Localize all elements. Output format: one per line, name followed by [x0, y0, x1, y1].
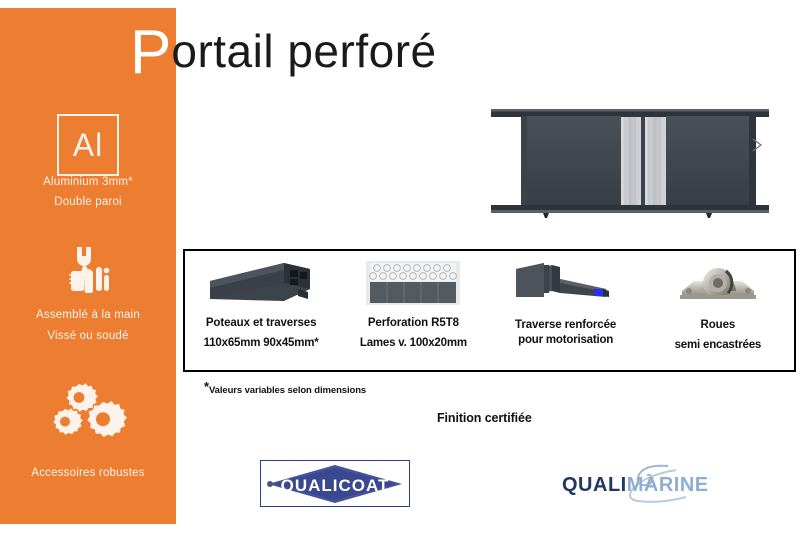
qualimarine-wordmark-bold: QUALI: [562, 474, 627, 496]
qualimarine-wordmark-light: MARINE: [627, 474, 709, 496]
product-spec: semi encastrées: [675, 339, 762, 352]
product-name: Perforation R5T8: [368, 317, 459, 330]
aluminium-square-icon: Al: [57, 114, 119, 176]
product-item: Poteaux et traverses 110x65mm 90x45mm*: [185, 251, 337, 370]
footnote-text: Valeurs variables selon dimensions: [209, 385, 366, 396]
sliding-gate-image: [481, 103, 779, 222]
footnote: *Valeurs variables selon dimensions: [204, 379, 366, 396]
product-spec: pour motorisation: [518, 334, 613, 347]
perforation-sample-image: [366, 258, 460, 308]
feature-assembly-sublabel: Vissé ou soudé: [0, 330, 176, 343]
page-title-initial: P: [130, 18, 171, 87]
feature-aluminium-label: Aluminium 3mm*: [0, 176, 176, 189]
page-title-rest: ortail perforé: [171, 25, 436, 77]
wheel-bearing-image: [672, 258, 764, 308]
product-spec: 110x65mm 90x45mm*: [204, 337, 319, 350]
product-item: Traverse renforcée pour motorisation: [490, 251, 642, 370]
finition-heading: Finition certifiée: [437, 411, 532, 425]
product-name: Poteaux et traverses: [206, 317, 317, 330]
qualicoat-wordmark: QUALICOAT: [281, 476, 390, 495]
products-panel: Poteaux et traverses 110x65mm 90x45mm*: [183, 249, 796, 372]
product-item: Roues semi encastrées: [642, 251, 794, 370]
post-profile-image: [206, 258, 316, 308]
qualicoat-logo: QUALICOAT: [260, 460, 410, 507]
feature-accessories-label: Accessoires robustes: [0, 467, 176, 480]
wrench-hand-icon: [0, 245, 176, 297]
product-name: Roues: [701, 319, 736, 332]
slide-root: Al Aluminium 3mm* Double paroi: [0, 0, 800, 534]
qualimarine-wordmark: QUALIMARINE: [562, 475, 709, 495]
feature-aluminium-sublabel: Double paroi: [0, 196, 176, 209]
aluminium-symbol-text: Al: [73, 129, 103, 161]
feature-accessories: Accessoires robustes: [0, 383, 176, 480]
feature-assembly-label: Assemblé à la main: [0, 309, 176, 322]
reinforced-crossbar-image: [510, 258, 622, 308]
feature-aluminium: Al Aluminium 3mm* Double paroi: [0, 114, 176, 209]
gears-icon: [0, 383, 176, 445]
product-item: Perforation R5T8 Lames v. 100x20mm: [337, 251, 489, 370]
qualimarine-logo: QUALIMARINE: [556, 462, 716, 507]
page-title: Portail perforé: [130, 22, 437, 84]
product-spec: Lames v. 100x20mm: [360, 337, 467, 350]
feature-assembly: Assemblé à la main Vissé ou soudé: [0, 245, 176, 342]
product-name: Traverse renforcée: [515, 319, 616, 332]
